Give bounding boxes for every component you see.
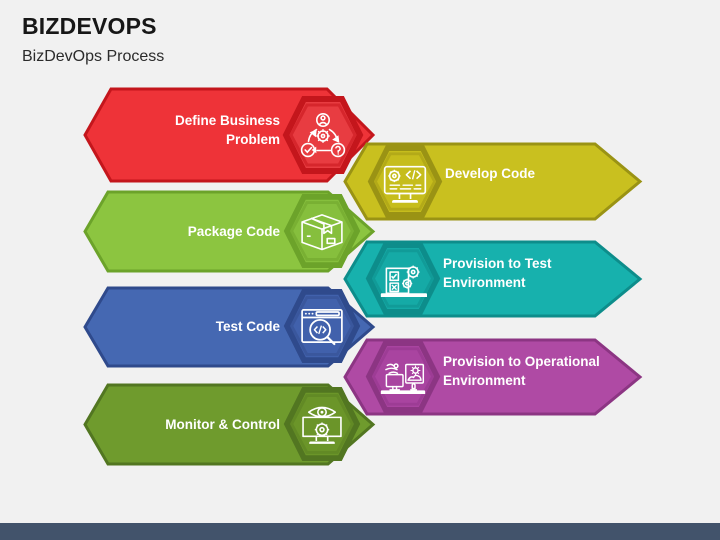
page-title: BIZDEVOPS — [22, 14, 164, 39]
process-step-3[interactable]: Package Code — [85, 192, 373, 271]
process-step-2[interactable]: Develop Code — [345, 144, 640, 219]
footer-bar — [0, 523, 720, 540]
page-subtitle: BizDevOps Process — [22, 48, 164, 66]
process-step-7[interactable]: Monitor & Control — [85, 385, 373, 464]
process-step-4[interactable]: Provision to Test Environment — [345, 242, 640, 316]
process-step-1[interactable]: Define Business Problem — [85, 89, 373, 181]
process-step-5[interactable]: Test Code — [85, 288, 373, 366]
process-step-6[interactable]: Provision to Operational Environment — [345, 340, 640, 414]
slide-header: BIZDEVOPS BizDevOps Process — [22, 14, 164, 66]
slide-canvas: BIZDEVOPS BizDevOps Process Define Busin… — [0, 0, 720, 540]
